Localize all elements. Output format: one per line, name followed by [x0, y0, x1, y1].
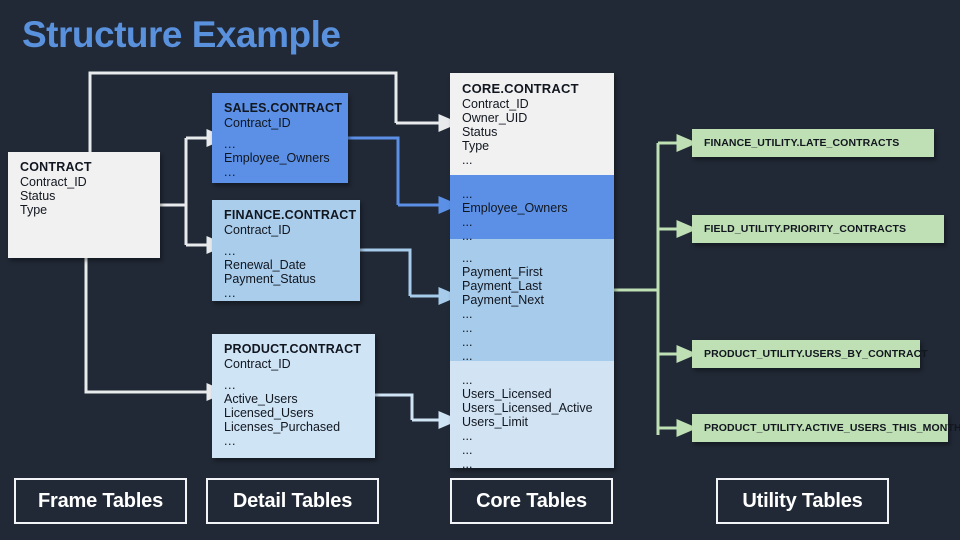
diagram-canvas: Structure Example CONTRACT Contract_ID S… [0, 0, 960, 540]
column-name: ... [224, 434, 365, 448]
utility-table-product-active-users-this-month[interactable]: PRODUCT_UTILITY.ACTIVE_USERS_THIS_MONTH [692, 414, 948, 442]
legend-detail-tables[interactable]: Detail Tables [206, 478, 379, 524]
column-name: Renewal_Date [224, 258, 350, 272]
frame-table-contract[interactable]: CONTRACT Contract_ID Status Type [8, 152, 160, 258]
column-name: Payment_Last [462, 279, 604, 293]
table-name: CONTRACT [20, 160, 150, 174]
column-name: ... [462, 373, 604, 387]
column-name: Licensed_Users [224, 406, 365, 420]
core-band-sales: ... Employee_Owners ... ... [450, 175, 614, 239]
column-name: ... [224, 165, 338, 179]
column-name: ... [462, 335, 604, 349]
column-name: Owner_UID [462, 111, 604, 125]
column-name: ... [462, 321, 604, 335]
detail-table-finance-contract[interactable]: FINANCE.CONTRACT Contract_ID ... Renewal… [212, 200, 360, 301]
detail-table-sales-contract[interactable]: SALES.CONTRACT Contract_ID ... Employee_… [212, 93, 348, 183]
utility-table-label: FINANCE_UTILITY.LATE_CONTRACTS [704, 137, 899, 149]
table-name: FINANCE.CONTRACT [224, 208, 350, 222]
column-name: Users_Limit [462, 415, 604, 429]
utility-table-label: PRODUCT_UTILITY.USERS_BY_CONTRACT [704, 348, 928, 360]
column-name: Contract_ID [224, 357, 365, 371]
column-name: Employee_Owners [224, 151, 338, 165]
column-name: ... [224, 286, 350, 300]
column-name: ... [462, 443, 604, 457]
column-name: Licenses_Purchased [224, 420, 365, 434]
column-name: Payment_First [462, 265, 604, 279]
wire-contract-to-sales [160, 138, 186, 205]
column-name: Active_Users [224, 392, 365, 406]
wire-contract-to-finance [160, 205, 186, 245]
column-name: Users_Licensed_Active [462, 401, 604, 415]
wire-product-to-core [375, 395, 412, 420]
page-title: Structure Example [22, 14, 340, 56]
column-name: Users_Licensed [462, 387, 604, 401]
column-name: Payment_Next [462, 293, 604, 307]
column-name: Status [20, 189, 150, 203]
wire-contract-to-product [86, 258, 186, 392]
column-name: ... [462, 153, 604, 167]
column-name: ... [224, 244, 350, 258]
column-name: Contract_ID [224, 223, 350, 237]
legend-label: Utility Tables [742, 490, 862, 513]
column-name: ... [462, 307, 604, 321]
column-name: Type [20, 203, 150, 217]
column-name: Type [462, 139, 604, 153]
core-band-finance: ... Payment_First Payment_Last Payment_N… [450, 239, 614, 361]
column-name: ... [224, 378, 365, 392]
column-name: Payment_Status [224, 272, 350, 286]
column-name: ... [462, 215, 604, 229]
column-name: Contract_ID [462, 97, 604, 111]
legend-core-tables[interactable]: Core Tables [450, 478, 613, 524]
column-name: ... [462, 251, 604, 265]
core-table-core-contract[interactable]: CORE.CONTRACT Contract_ID Owner_UID Stat… [450, 73, 614, 468]
column-name: ... [224, 137, 338, 151]
column-gap [224, 130, 338, 137]
column-name: ... [462, 457, 604, 468]
wire-sales-to-core [348, 138, 398, 205]
utility-table-finance-late-contracts[interactable]: FINANCE_UTILITY.LATE_CONTRACTS [692, 129, 934, 157]
column-name: ... [462, 187, 604, 201]
utility-table-field-priority-contracts[interactable]: FIELD_UTILITY.PRIORITY_CONTRACTS [692, 215, 944, 243]
column-name: Contract_ID [224, 116, 338, 130]
core-band-product: ... Users_Licensed Users_Licensed_Active… [450, 361, 614, 468]
column-gap [224, 371, 365, 378]
column-name: Contract_ID [20, 175, 150, 189]
legend-frame-tables[interactable]: Frame Tables [14, 478, 187, 524]
utility-table-product-users-by-contract[interactable]: PRODUCT_UTILITY.USERS_BY_CONTRACT [692, 340, 920, 368]
column-name: Status [462, 125, 604, 139]
legend-label: Detail Tables [233, 490, 352, 513]
utility-table-label: FIELD_UTILITY.PRIORITY_CONTRACTS [704, 223, 906, 235]
table-name: SALES.CONTRACT [224, 101, 338, 115]
column-gap [224, 237, 350, 244]
table-name: PRODUCT.CONTRACT [224, 342, 365, 356]
column-name: ... [462, 429, 604, 443]
detail-table-product-contract[interactable]: PRODUCT.CONTRACT Contract_ID ... Active_… [212, 334, 375, 458]
column-name: Employee_Owners [462, 201, 604, 215]
legend-label: Frame Tables [38, 490, 163, 513]
core-band-frame: CORE.CONTRACT Contract_ID Owner_UID Stat… [450, 73, 614, 175]
legend-label: Core Tables [476, 490, 587, 513]
legend-utility-tables[interactable]: Utility Tables [716, 478, 889, 524]
wire-finance-to-core [360, 250, 410, 296]
utility-table-label: PRODUCT_UTILITY.ACTIVE_USERS_THIS_MONTH [704, 422, 960, 434]
table-name: CORE.CONTRACT [462, 81, 604, 96]
